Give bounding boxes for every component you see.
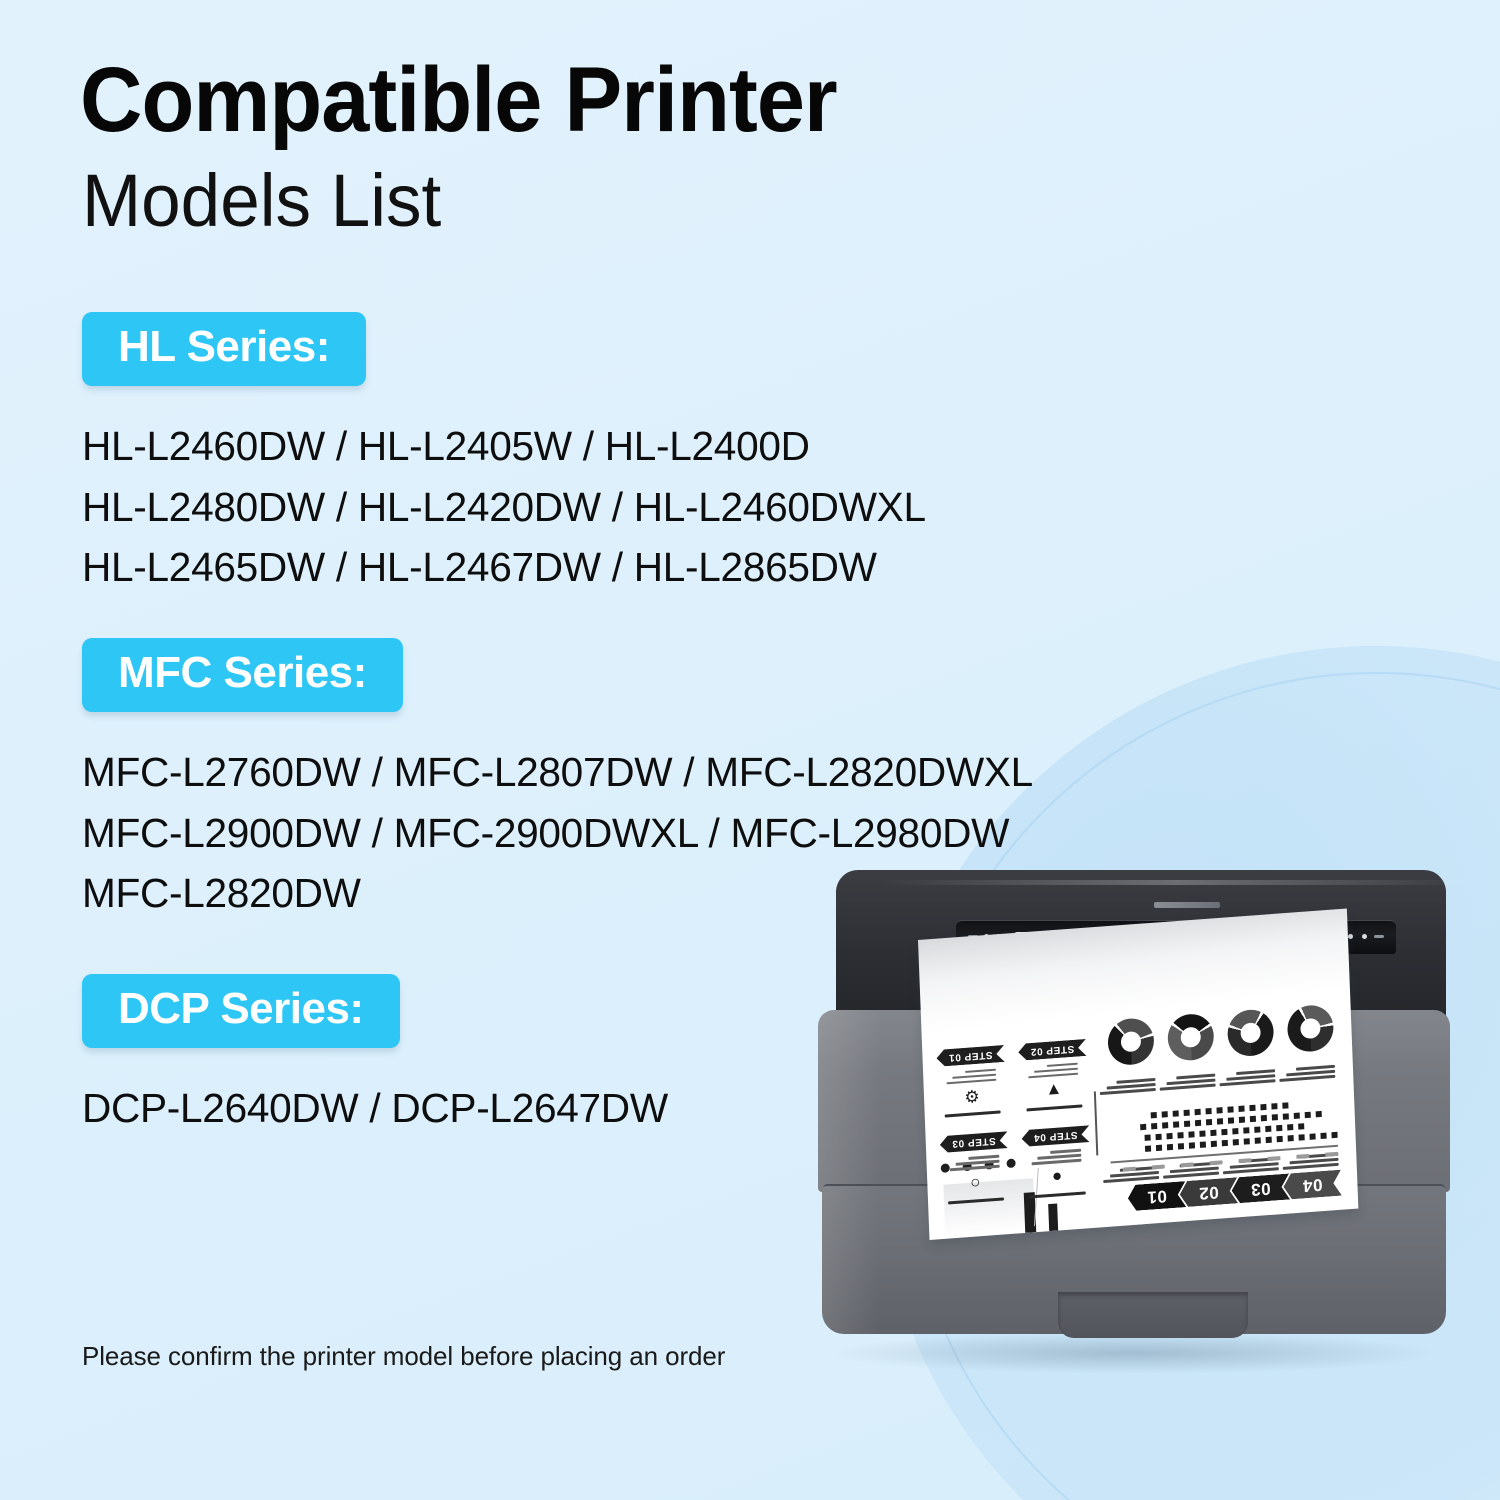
donut-chart: [1107, 1017, 1155, 1066]
printer-brand-logo: [1154, 902, 1220, 908]
step-ribbon: STEP 02: [1018, 1039, 1086, 1061]
series-badge-dcp: DCP Series:: [82, 974, 400, 1048]
donut-chart: [1167, 1013, 1215, 1062]
donut-captions: [1095, 1063, 1335, 1096]
slot-dash: [1374, 935, 1384, 938]
caption-block: [1159, 1071, 1215, 1090]
status-led: [1362, 934, 1367, 939]
model-line: HL-L2465DW / HL-L2467DW / HL-L2865DW: [82, 537, 926, 598]
chevron-label: 03: [1231, 1173, 1290, 1203]
page-title: Compatible Printer: [80, 52, 837, 149]
printer-illustration: 04 03 02 01: [800, 862, 1480, 1382]
page-subtitle: Models List: [82, 162, 441, 240]
step-row: ▼ STEP 02 ⚙ STEP 01: [936, 1039, 1088, 1119]
droplet-icon: ●: [1023, 1166, 1091, 1188]
footnote-text: Please confirm the printer model before …: [82, 1341, 725, 1372]
step-card: ○ STEP 03: [940, 1131, 1010, 1205]
model-line: DCP-L2640DW / DCP-L2647DW: [82, 1078, 668, 1139]
step-card: ● STEP 04: [1021, 1125, 1091, 1199]
donut-chart: [1287, 1004, 1335, 1053]
model-line: MFC-L2900DW / MFC-2900DWXL / MFC-L2980DW: [82, 803, 1033, 864]
chevron-label: 01: [1127, 1181, 1186, 1211]
caption-block: [1219, 1067, 1275, 1086]
printer-top-highlight: [880, 880, 1474, 885]
feed-bar: [1048, 1204, 1058, 1232]
donut-chart-row: [1107, 1004, 1334, 1067]
printed-page: 04 03 02 01: [918, 909, 1358, 1240]
step-ribbon: STEP 04: [1021, 1125, 1089, 1147]
series-section-dcp: DCP Series: DCP-L2640DW / DCP-L2647DW: [82, 974, 674, 1139]
printer-tray-handle: [1058, 1292, 1248, 1338]
magnifier-icon: ○: [941, 1172, 1009, 1194]
matrix-vertical-line: [1094, 1091, 1098, 1155]
series-badge-hl: HL Series:: [82, 312, 366, 386]
printed-page-content: 04 03 02 01: [918, 909, 1358, 1240]
step-card: ▼ STEP 02: [1018, 1039, 1088, 1113]
model-line: HL-L2460DW / HL-L2405W / HL-L2400D: [82, 416, 926, 477]
model-line: HL-L2480DW / HL-L2420DW / HL-L2460DWXL: [82, 477, 926, 538]
caption-block: [1279, 1063, 1335, 1082]
donut-chart: [1227, 1008, 1275, 1057]
chevron-label: 04: [1283, 1170, 1342, 1200]
series-badge-mfc: MFC Series:: [82, 638, 403, 712]
series-models-hl: HL-L2460DW / HL-L2405W / HL-L2400D HL-L2…: [82, 416, 934, 598]
status-led: [1348, 934, 1353, 939]
caption-block: [1099, 1076, 1155, 1095]
model-line: MFC-L2760DW / MFC-L2807DW / MFC-L2820DWX…: [82, 742, 1033, 803]
gear-icon: ⚙: [938, 1085, 1006, 1107]
step-row: ● STEP 04 ○ STEP 03: [940, 1125, 1092, 1205]
series-models-dcp: DCP-L2640DW / DCP-L2647DW: [82, 1078, 674, 1139]
printer-shadow: [828, 1332, 1438, 1374]
step-ribbon: STEP 01: [936, 1045, 1004, 1067]
chevron-label: 02: [1179, 1177, 1238, 1207]
step-card-grid: ● STEP 04 ○ STEP 03 ▼: [936, 1021, 1092, 1205]
step-card: ⚙ STEP 01: [936, 1045, 1006, 1119]
step-ribbon: STEP 03: [940, 1131, 1008, 1153]
series-section-hl: HL Series: HL-L2460DW / HL-L2405W / HL-L…: [82, 312, 934, 598]
funnel-icon: ▼: [1020, 1079, 1088, 1101]
